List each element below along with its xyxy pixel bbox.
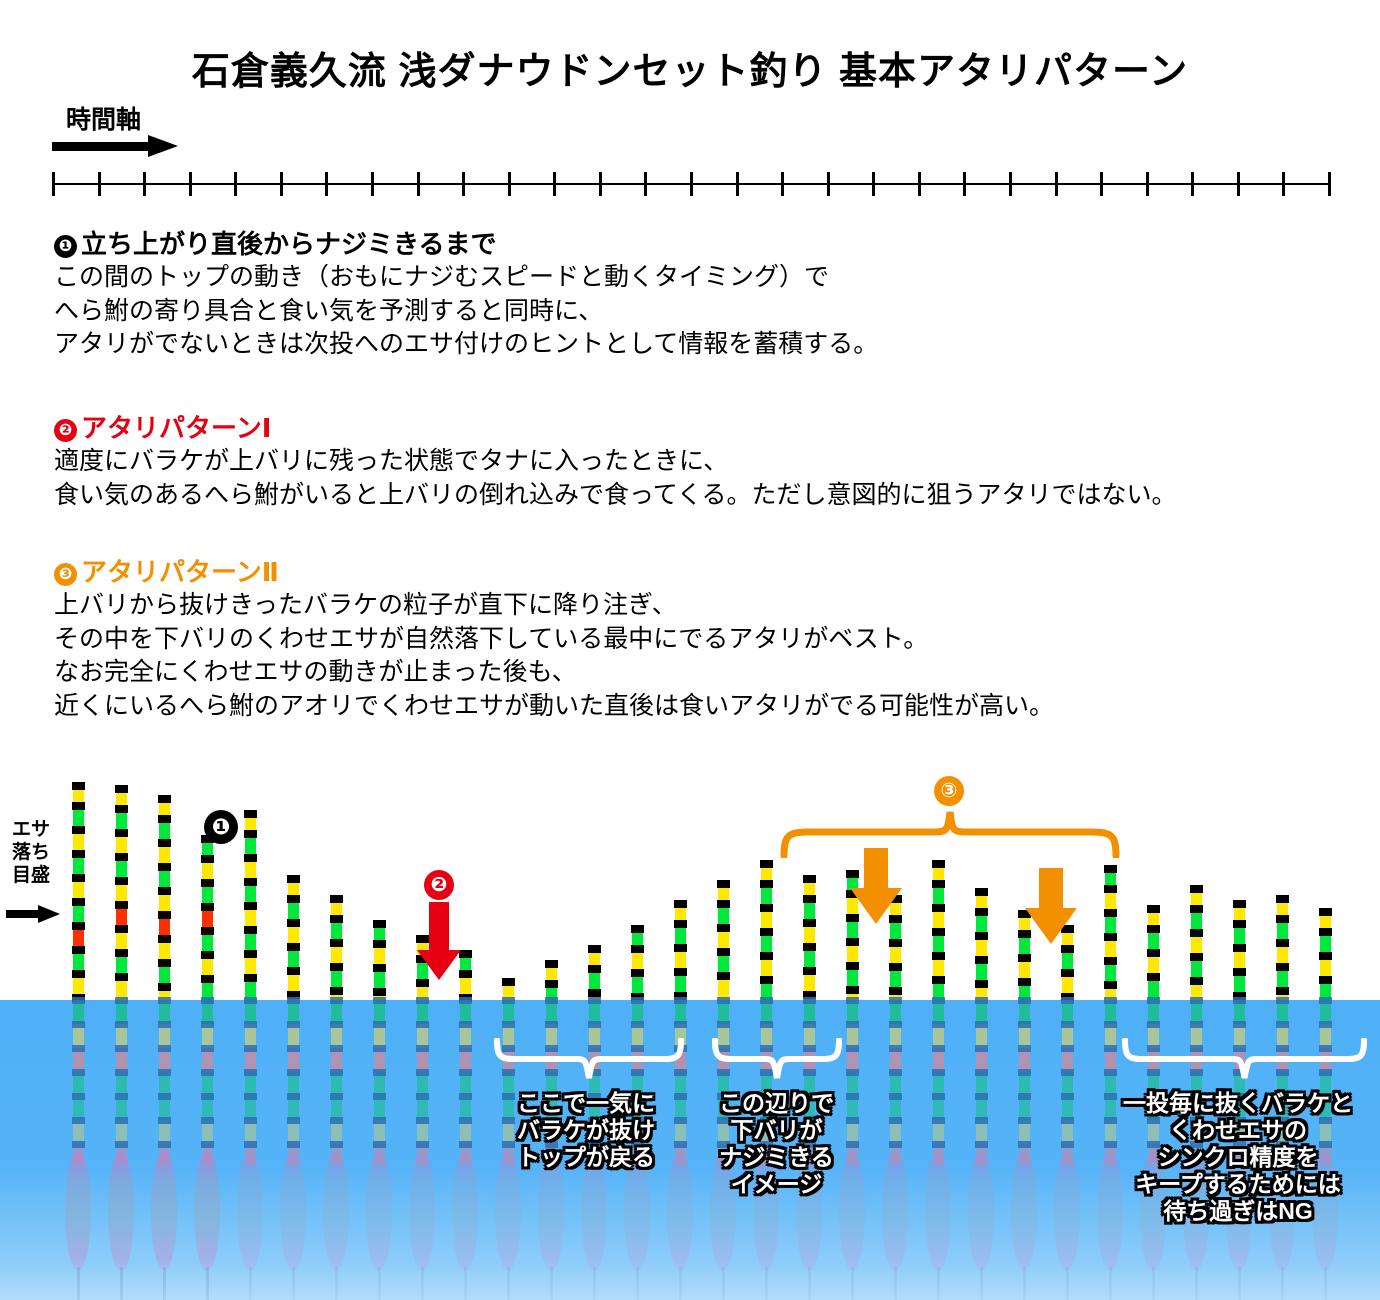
ruler-tick (325, 172, 328, 196)
float-submerged-mark (588, 997, 601, 1004)
float-tip-mark (158, 795, 171, 803)
float-scale-mark (1190, 977, 1203, 985)
float-scale-mark (1018, 954, 1031, 962)
float-top-stem (632, 925, 643, 1000)
section-3-line-4: 近くにいるへら鮒のアオリでくわせエサが動いた直後は食いアタリがでる可能性が高い。 (54, 690, 1054, 724)
float-scale-mark (1104, 957, 1117, 965)
section-2-line-2: 食い気のあるへら鮒がいると上バリの倒れ込みで食ってくる。ただし意図的に狙うアタリ… (54, 479, 1177, 513)
float-submerged-mark (760, 997, 773, 1004)
red-down-arrow-icon (417, 902, 461, 980)
float-scale-mark (1061, 969, 1074, 977)
float-submerged-mark (932, 1021, 945, 1028)
float-submerged-mark (1104, 1141, 1117, 1148)
float-submerged-mark (416, 997, 429, 1004)
float-body-tail (1109, 1267, 1112, 1300)
float-submerged-mark (975, 1093, 988, 1100)
float-submerged-mark (244, 997, 257, 1004)
float-scale-mark (846, 986, 859, 994)
float-tip-mark (373, 920, 386, 928)
float-submerged-mark (1018, 1093, 1031, 1100)
ruler-tick (1146, 172, 1149, 196)
float-top-stem (460, 950, 471, 1000)
float-scale-mark (1190, 953, 1203, 961)
ruler-tick (963, 172, 966, 196)
float-scale-mark (1104, 909, 1117, 917)
float-scale-mark (373, 988, 386, 996)
float-scale-mark (158, 911, 171, 919)
float-scale-mark (158, 887, 171, 895)
float-submerged-mark (158, 1093, 171, 1100)
float-top-stem (933, 860, 944, 1000)
float-scale-mark (201, 879, 214, 887)
caption-line: ナジミきる (719, 1144, 834, 1171)
float-scale-mark (1276, 963, 1289, 971)
float-scale-mark (631, 945, 644, 953)
float-submerged-mark (201, 1117, 214, 1124)
float-scale-mark (1319, 976, 1332, 984)
callout-badge-3: ③ (934, 776, 964, 806)
caption-line: 一投毎に抜くバラケと (1123, 1090, 1353, 1117)
float-submerged-mark (373, 1117, 386, 1124)
float-scale-mark (158, 959, 171, 967)
infographic-root: 石倉義久流 浅ダナウドンセット釣り 基本アタリパターン 時間軸 ❶立ち上がり直後… (0, 0, 1380, 1300)
float-submerged-mark (287, 1021, 300, 1028)
float-body-tail (1023, 1267, 1026, 1300)
float-submerged-mark (373, 1141, 386, 1148)
float-submerged-mark (1233, 1021, 1246, 1028)
float-submerged-mark (889, 1093, 902, 1100)
float-submerged-mark (201, 997, 214, 1004)
float-submerged-mark (588, 1021, 601, 1028)
float-scale-mark (932, 952, 945, 960)
float-scale-mark (631, 969, 644, 977)
float-scale-mark (72, 850, 85, 858)
caption-line: 下バリが (719, 1117, 834, 1144)
arrow-shaft (864, 848, 888, 892)
float-submerged-mark (373, 997, 386, 1004)
float-scale-mark (975, 908, 988, 916)
float-submerged-mark (502, 1093, 515, 1100)
float-scale-mark (889, 987, 902, 995)
float-scale-mark (674, 920, 687, 928)
orange-down-arrow-icon (1025, 868, 1077, 944)
ruler-tick (1100, 172, 1103, 196)
float-submerged-mark (846, 1069, 859, 1076)
float-top-stem (1191, 885, 1202, 1000)
float-submerged-mark (1104, 1069, 1117, 1076)
float-scale-mark (717, 924, 730, 932)
float-scale-mark (115, 805, 128, 813)
float-submerged-stem (159, 1000, 170, 1165)
caption-line: 待ち過ぎはNG (1123, 1198, 1353, 1225)
float-submerged-mark (115, 1093, 128, 1100)
float-submerged-mark (1061, 1141, 1074, 1148)
section-3-heading: ❸アタリパターンⅡ (54, 556, 1054, 589)
float-scale-mark (115, 973, 128, 981)
float-scale-mark (158, 815, 171, 823)
float-submerged-mark (545, 997, 558, 1004)
float-submerged-mark (1104, 997, 1117, 1004)
float-body-tail (421, 1267, 424, 1300)
float-scale-mark (330, 987, 343, 995)
float-scale-mark (975, 932, 988, 940)
ruler-tick (234, 172, 237, 196)
ruler-tick (98, 172, 101, 196)
caption-line: バラケが抜け (517, 1117, 655, 1144)
float-tip-mark (717, 880, 730, 888)
float-submerged-mark (1018, 1021, 1031, 1028)
float-submerged-mark (932, 1141, 945, 1148)
float-tip-mark (1276, 895, 1289, 903)
float-body (108, 1151, 134, 1271)
float-submerged-mark (1018, 1117, 1031, 1124)
float-submerged-mark (1190, 1021, 1203, 1028)
float-submerged-mark (846, 1021, 859, 1028)
float-top-stem (288, 875, 299, 1000)
float-scale-mark (158, 983, 171, 991)
float-submerged-mark (631, 1021, 644, 1028)
float-submerged-mark (330, 1117, 343, 1124)
callout-badge-2: ❷ (424, 870, 454, 900)
float-top-stem (675, 900, 686, 1000)
caption-line: ここで一気に (517, 1090, 655, 1117)
float-scale-mark (1147, 925, 1160, 933)
time-ruler (52, 183, 1328, 185)
ruler-tick (781, 172, 784, 196)
float-scale-mark (287, 895, 300, 903)
float-scale-mark (932, 904, 945, 912)
float-scale-mark (330, 939, 343, 947)
float-tip-mark (588, 945, 601, 953)
float-submerged-mark (1319, 1021, 1332, 1028)
float-submerged-mark (803, 997, 816, 1004)
float-submerged-mark (330, 1045, 343, 1052)
float-scale-mark (803, 967, 816, 975)
float-body (1097, 1151, 1123, 1271)
float-submerged-mark (244, 1045, 257, 1052)
float-scale-mark (1190, 905, 1203, 913)
float-submerged-mark (975, 997, 988, 1004)
float-submerged-mark (244, 1117, 257, 1124)
float-body (280, 1151, 306, 1271)
float-submerged-mark (1233, 997, 1246, 1004)
float-scale-mark (1018, 978, 1031, 986)
float-submerged-stem (73, 1000, 84, 1165)
ruler-tick (462, 172, 465, 196)
float-submerged-mark (72, 1093, 85, 1100)
float-top-stem (804, 875, 815, 1000)
float-scale-mark (1319, 952, 1332, 960)
float-scale-mark (760, 928, 773, 936)
float-tip-mark (287, 875, 300, 883)
float-scale-mark (158, 863, 171, 871)
float-body-tail (507, 1267, 510, 1300)
float-scale-mark (1276, 939, 1289, 947)
float-scale-mark (201, 951, 214, 959)
ruler-tick (553, 172, 556, 196)
caption-3: 一投毎に抜くバラケとくわせエサのシンクロ精度をキープするためには待ち過ぎはNG (1123, 1090, 1353, 1225)
float-top-stem (1148, 905, 1159, 1000)
float-tip-mark (72, 782, 85, 790)
section-2-heading: ❷アタリパターンⅠ (54, 412, 1177, 445)
float-scale-mark (1319, 928, 1332, 936)
float-submerged-mark (1061, 1117, 1074, 1124)
float-submerged-mark (244, 1093, 257, 1100)
float-tip-mark (932, 860, 945, 868)
float-scale-mark (717, 948, 730, 956)
float-top-stem (202, 835, 213, 1000)
float-body-tail (980, 1267, 983, 1300)
float-body-tail (550, 1267, 553, 1300)
float-submerged-mark (502, 1021, 515, 1028)
arrow-head (417, 950, 461, 980)
float-submerged-mark (1061, 1045, 1074, 1052)
float-body (237, 1151, 263, 1271)
float-body (65, 1151, 91, 1271)
float-body-tail (1238, 1267, 1241, 1300)
section-3-line-2: その中を下バリのくわせエサが自然落下している最中にでるアタリがベスト。 (54, 623, 1054, 657)
float-body-tail (206, 1267, 209, 1300)
float-body (151, 1151, 177, 1271)
float-submerged-mark (889, 1021, 902, 1028)
ruler-tick (280, 172, 283, 196)
float-top-stem (116, 785, 127, 1000)
float-scale-mark (1061, 945, 1074, 953)
float-scale-mark (115, 949, 128, 957)
float-submerged-mark (889, 1069, 902, 1076)
float-top-stem (546, 960, 557, 1000)
caption-line: シンクロ精度を (1123, 1144, 1353, 1171)
float-submerged-mark (932, 1069, 945, 1076)
float-submerged-mark (244, 1069, 257, 1076)
float-scale-mark (760, 880, 773, 888)
page-title: 石倉義久流 浅ダナウドンセット釣り 基本アタリパターン (0, 40, 1380, 95)
float-scale-mark (717, 972, 730, 980)
float-submerged-mark (158, 1117, 171, 1124)
float-submerged-mark (72, 1069, 85, 1076)
float-scale-mark (72, 922, 85, 930)
ruler-tick (417, 172, 420, 196)
float-submerged-mark (674, 1021, 687, 1028)
float-submerged-mark (287, 1093, 300, 1100)
float-scale-mark (717, 900, 730, 908)
ruler-tick (1009, 172, 1012, 196)
float-scale-mark (72, 946, 85, 954)
float-scale-mark (201, 855, 214, 863)
section-1-heading: ❶立ち上がり直後からナジミきるまで (54, 228, 878, 261)
caption-1: ここで一気にバラケが抜けトップが戻る (517, 1090, 655, 1171)
float-body-tail (1281, 1267, 1284, 1300)
float-submerged-mark (416, 1045, 429, 1052)
float-submerged-stem (1105, 1000, 1116, 1165)
ruler-tick (1191, 172, 1194, 196)
section-2: ❷アタリパターンⅠ 適度にバラケが上バリに残った状態でタナに入ったときに、 食い… (54, 412, 1177, 512)
white-brace (712, 1038, 842, 1082)
float-submerged-mark (373, 1093, 386, 1100)
float-body-tail (292, 1267, 295, 1300)
float-submerged-mark (416, 1093, 429, 1100)
float-submerged-mark (330, 1141, 343, 1148)
float-body-tail (77, 1267, 80, 1300)
float-tip-mark (803, 875, 816, 883)
float-scale-mark (244, 926, 257, 934)
float-scale-mark (1147, 973, 1160, 981)
float-submerged-mark (115, 1069, 128, 1076)
float-submerged-mark (330, 1069, 343, 1076)
float-scale-mark (803, 943, 816, 951)
float-submerged-mark (287, 1117, 300, 1124)
float-submerged-mark (846, 1117, 859, 1124)
float-tip-mark (502, 978, 515, 986)
float-tip-mark (631, 925, 644, 933)
float-submerged-mark (1061, 1069, 1074, 1076)
float-top-stem (1277, 895, 1288, 1000)
float-submerged-mark (932, 1045, 945, 1052)
float-scale-mark (72, 898, 85, 906)
float-submerged-mark (416, 1069, 429, 1076)
float-submerged-mark (1061, 1021, 1074, 1028)
ruler-tick (1328, 172, 1331, 196)
float-submerged-stem (417, 1000, 428, 1165)
float-submerged-stem (116, 1000, 127, 1165)
float-submerged-mark (1276, 1021, 1289, 1028)
float-tip-mark (1147, 905, 1160, 913)
float-submerged-mark (674, 997, 687, 1004)
float-submerged-mark (416, 1021, 429, 1028)
float-tip-mark (244, 810, 257, 818)
float-submerged-mark (459, 997, 472, 1004)
float-scale-mark (115, 829, 128, 837)
float-submerged-stem (1062, 1000, 1073, 1165)
callout-badge-1: ❶ (204, 810, 238, 844)
float-body (925, 1151, 951, 1271)
float-scale-mark (975, 956, 988, 964)
float-top-stem (374, 920, 385, 1000)
float-scale-mark (373, 964, 386, 972)
float-body (1011, 1151, 1037, 1271)
float-submerged-mark (760, 1021, 773, 1028)
float-submerged-mark (975, 1141, 988, 1148)
float-scale-mark (158, 839, 171, 847)
float-submerged-mark (1104, 1117, 1117, 1124)
float-submerged-mark (373, 1021, 386, 1028)
float-body-tail (765, 1267, 768, 1300)
float-submerged-mark (158, 1021, 171, 1028)
arrow-shaft (429, 902, 449, 954)
float-submerged-stem (890, 1000, 901, 1165)
float-scale-mark (588, 989, 601, 997)
float-scale-mark (846, 962, 859, 970)
float-top-stem (589, 945, 600, 1000)
ruler-tick (599, 172, 602, 196)
float-top-stem (1234, 900, 1245, 1000)
float-body-tail (851, 1267, 854, 1300)
ruler-tick (1237, 172, 1240, 196)
float-body (194, 1151, 220, 1271)
float-submerged-mark (932, 1117, 945, 1124)
float-scale-mark (1276, 987, 1289, 995)
float-submerged-mark (674, 1093, 687, 1100)
float-tip-mark (1319, 908, 1332, 916)
float-submerged-mark (72, 1045, 85, 1052)
float-submerged-mark (459, 1045, 472, 1052)
arrow-head (1025, 908, 1077, 944)
float-scale-mark (201, 975, 214, 983)
orange-brace (780, 808, 1120, 858)
float-submerged-stem (933, 1000, 944, 1165)
float-submerged-mark (287, 1069, 300, 1076)
arrow-shaft (1039, 868, 1063, 912)
float-tip-mark (115, 785, 128, 793)
float-submerged-mark (889, 1045, 902, 1052)
float-top-stem (1105, 865, 1116, 1000)
float-scale-mark (416, 979, 429, 987)
float-submerged-mark (373, 1045, 386, 1052)
float-submerged-mark (1018, 1069, 1031, 1076)
float-submerged-mark (846, 1141, 859, 1148)
caption-line: この辺りで (719, 1090, 834, 1117)
float-scale-mark (1276, 915, 1289, 923)
float-submerged-mark (1104, 1045, 1117, 1052)
float-submerged-mark (674, 1141, 687, 1148)
ruler-tick (143, 172, 146, 196)
float-submerged-mark (416, 1141, 429, 1148)
float-submerged-mark (72, 1021, 85, 1028)
float-tip-mark (674, 900, 687, 908)
ruler-tick (508, 172, 511, 196)
float-scale-mark (674, 968, 687, 976)
ruler-tick (736, 172, 739, 196)
caption-2: この辺りで下バリがナジミきるイメージ (719, 1090, 834, 1198)
float-submerged-mark (1018, 1045, 1031, 1052)
float-body-tail (808, 1267, 811, 1300)
float-submerged-mark (373, 1069, 386, 1076)
float-tip-mark (760, 860, 773, 868)
float-chart: ❶❷③ここで一気にバラケが抜けトップが戻るこの辺りで下バリがナジミきるイメージ一… (0, 770, 1380, 1300)
float-tip-mark (1104, 865, 1117, 873)
section-3: ❸アタリパターンⅡ 上バリから抜けきったバラケの粒子が直下に降り注ぎ、 その中を… (54, 556, 1054, 723)
float-submerged-mark (545, 1021, 558, 1028)
caption-line: イメージ (719, 1171, 834, 1198)
float-submerged-mark (1061, 1093, 1074, 1100)
section-3-line-3: なお完全にくわせエサの動きが止まった後も、 (54, 656, 1054, 690)
float-scale-mark (244, 950, 257, 958)
float-scale-mark (588, 965, 601, 973)
float-submerged-mark (115, 1045, 128, 1052)
float-submerged-mark (115, 997, 128, 1004)
float-submerged-mark (502, 997, 515, 1004)
float-submerged-mark (975, 1021, 988, 1028)
float-body-tail (464, 1267, 467, 1300)
ruler-tick (827, 172, 830, 196)
float-submerged-stem (288, 1000, 299, 1165)
float-submerged-mark (201, 1141, 214, 1148)
ruler-tick (52, 172, 55, 196)
float-tip-mark (330, 895, 343, 903)
float-scale-mark (932, 928, 945, 936)
section-1-line-3: アタリがでないときは次投へのエサ付けのヒントとして情報を蓄積する。 (54, 328, 878, 362)
float-scale-mark (1104, 933, 1117, 941)
float-scale-mark (932, 880, 945, 888)
ruler-tick (189, 172, 192, 196)
float-scale-mark (1233, 944, 1246, 952)
white-brace (1122, 1038, 1367, 1082)
float-submerged-mark (115, 1021, 128, 1028)
float-scale-mark (674, 944, 687, 952)
float-submerged-mark (287, 997, 300, 1004)
float-submerged-mark (459, 1093, 472, 1100)
arrow-head (850, 888, 902, 924)
